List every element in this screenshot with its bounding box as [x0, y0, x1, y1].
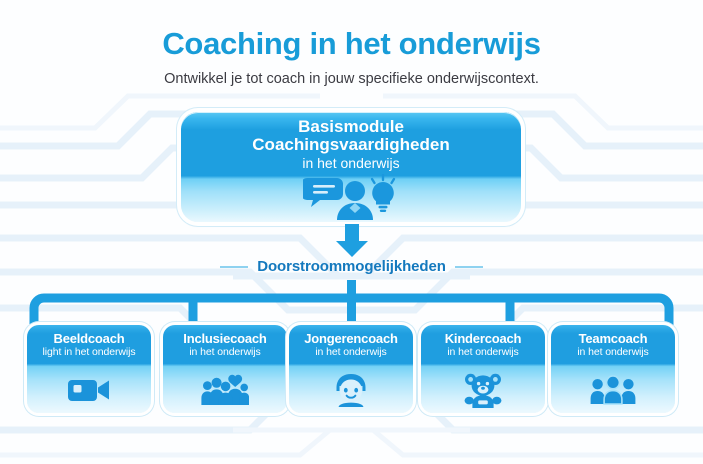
- card-teamcoach[interactable]: Teamcoach in het onderwijs: [551, 325, 675, 413]
- page-subtitle: Ontwikkel je tot coach in jouw specifiek…: [0, 71, 703, 87]
- card-heading: Kindercoach in het onderwijs: [421, 325, 545, 366]
- divider-dash-left: [220, 266, 248, 268]
- card-title: Teamcoach: [579, 332, 648, 346]
- doorstroom-label-row: Doorstroommogelijkheden: [0, 258, 703, 275]
- divider-dash-right: [455, 266, 483, 268]
- module-title-line3: in het onderwijs: [302, 156, 399, 171]
- coach-cards-row: Beeldcoach light in het onderwijs Inclus…: [0, 325, 703, 417]
- card-subtitle: in het onderwijs: [447, 347, 518, 359]
- page-title: Coaching in het onderwijs: [0, 26, 703, 62]
- arrow-down-icon: [333, 224, 371, 258]
- card-subtitle: light in het onderwijs: [43, 347, 136, 359]
- card-icon-area: [421, 367, 545, 413]
- team-group-icon: [590, 375, 636, 405]
- person-speech-bubble-lightbulb-icon: [303, 174, 399, 220]
- youth-face-icon: [330, 373, 372, 407]
- module-title-line1: Basismodule: [298, 118, 404, 136]
- card-inclusiecoach[interactable]: Inclusiecoach in het onderwijs: [163, 325, 287, 413]
- infographic-canvas: Coaching in het onderwijs Ontwikkel je t…: [0, 0, 703, 464]
- card-subtitle: in het onderwijs: [577, 347, 648, 359]
- card-title: Kindercoach: [445, 332, 522, 346]
- basismodule-card[interactable]: Basismodule Coachingsvaardigheden in het…: [181, 112, 521, 222]
- card-jongerencoach[interactable]: Jongerencoach in het onderwijs: [289, 325, 413, 413]
- teddy-bear-icon: [462, 372, 504, 408]
- connector-bracket: [0, 280, 703, 330]
- card-heading: Teamcoach in het onderwijs: [551, 325, 675, 366]
- card-title: Jongerencoach: [304, 332, 398, 346]
- module-icon-area: [181, 174, 521, 222]
- card-heading: Beeldcoach light in het onderwijs: [27, 325, 151, 366]
- card-icon-area: [163, 367, 287, 413]
- card-subtitle: in het onderwijs: [315, 347, 386, 359]
- card-heading: Inclusiecoach in het onderwijs: [163, 325, 287, 366]
- card-icon-area: [27, 367, 151, 413]
- doorstroom-label: Doorstroommogelijkheden: [257, 258, 446, 275]
- video-camera-icon: [67, 375, 111, 405]
- card-icon-area: [289, 367, 413, 413]
- card-heading: Jongerencoach in het onderwijs: [289, 325, 413, 366]
- group-heart-icon: [201, 374, 249, 406]
- card-icon-area: [551, 367, 675, 413]
- card-subtitle: in het onderwijs: [189, 347, 260, 359]
- card-beeldcoach[interactable]: Beeldcoach light in het onderwijs: [27, 325, 151, 413]
- module-title-line2: Coachingsvaardigheden: [252, 136, 449, 154]
- card-title: Inclusiecoach: [183, 332, 266, 346]
- card-title: Beeldcoach: [54, 332, 125, 346]
- module-heading: Basismodule Coachingsvaardigheden in het…: [181, 112, 521, 177]
- card-kindercoach[interactable]: Kindercoach in het onderwijs: [421, 325, 545, 413]
